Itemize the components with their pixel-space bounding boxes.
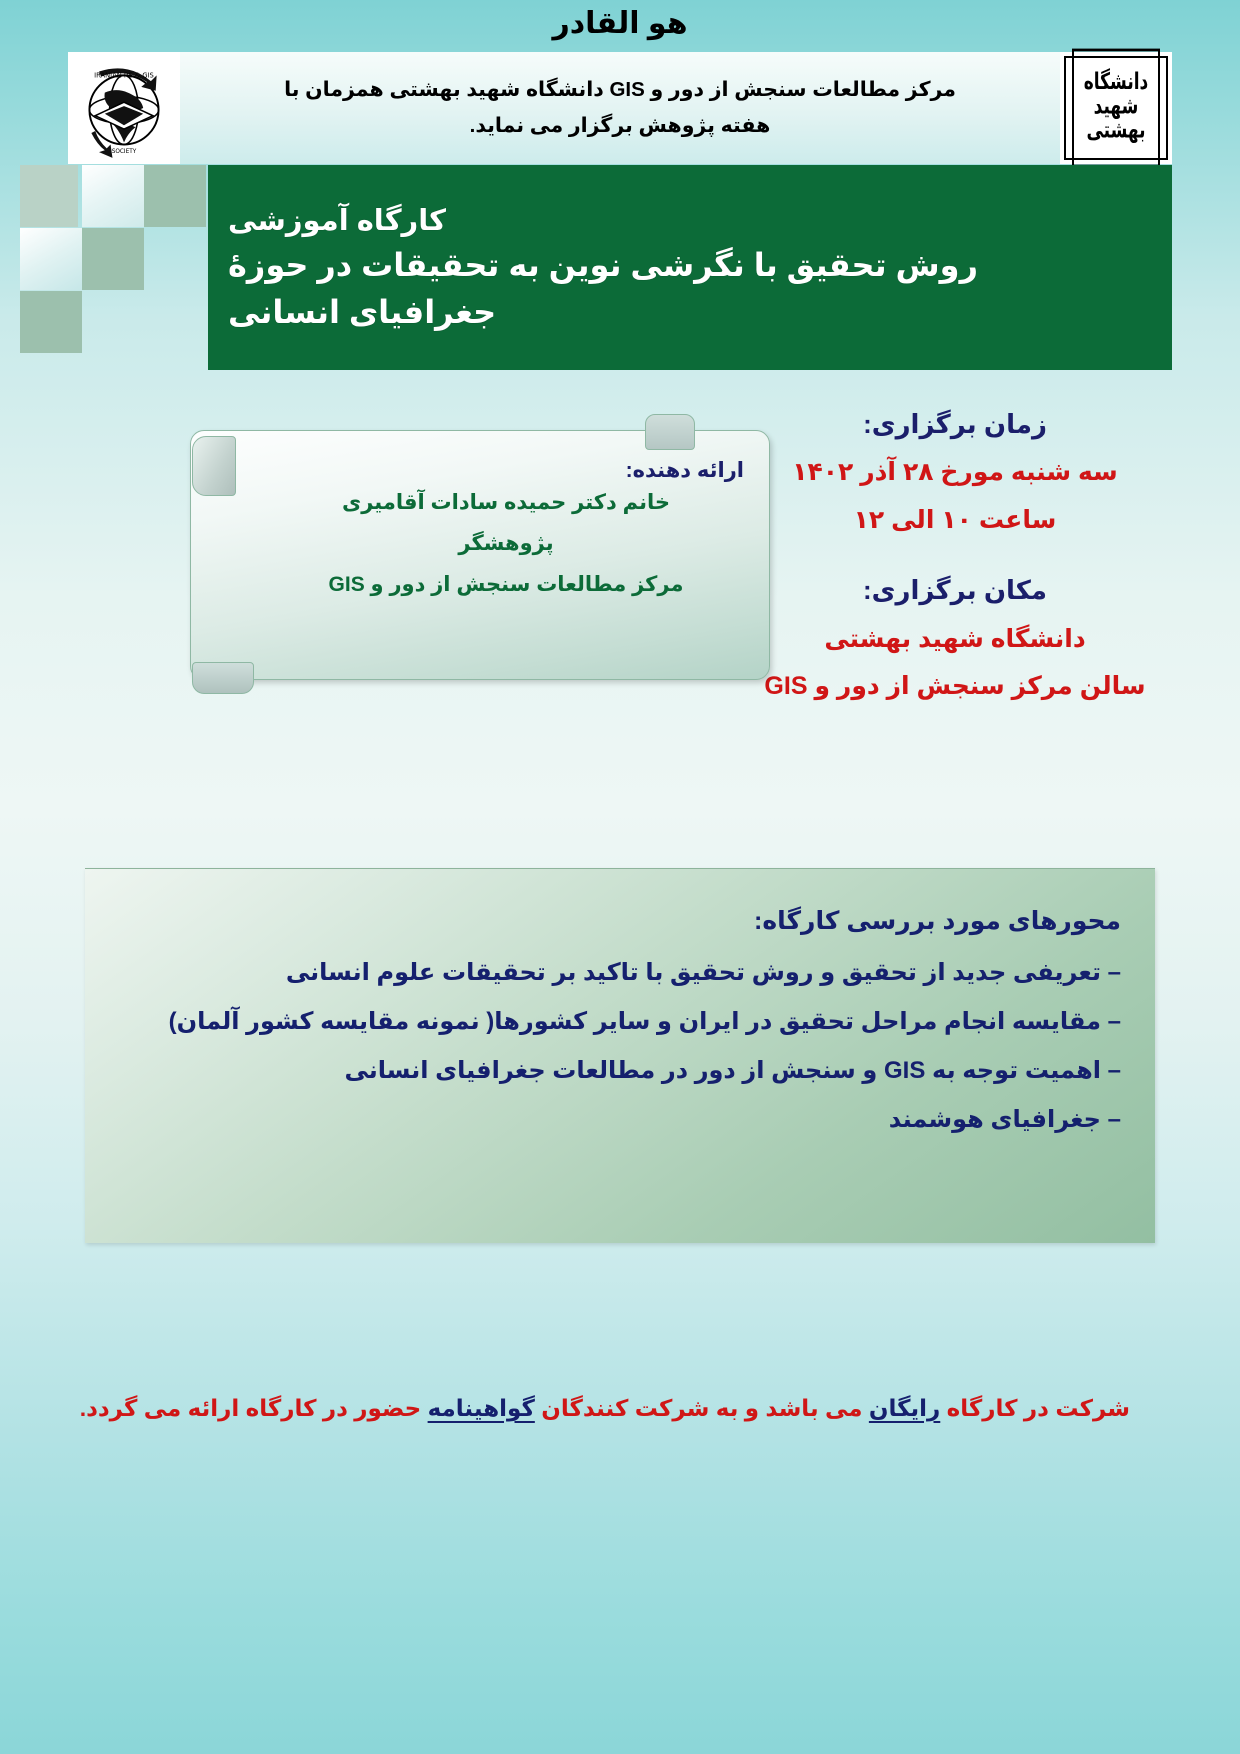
- banner-line-subtitle: جغرافیای انسانی: [228, 289, 782, 335]
- seal-calligraphy: دانشگاه شهید بهشتی: [1072, 49, 1160, 168]
- scroll-curl-top-icon: [645, 414, 695, 450]
- invocation-text: هو القادر: [0, 6, 1240, 41]
- scroll-curl-left-icon: [192, 436, 236, 496]
- event-place-line-1: دانشگاه شهید بهشتی: [760, 616, 1150, 664]
- topic-item: – اهمیت توجه به GIS و سنجش از دور در مطا…: [119, 1046, 1121, 1095]
- event-date: سه شنبه مورخ ۲۸ آذر ۱۴۰۲: [760, 449, 1150, 497]
- presenter-text-block: ارائه دهنده: خانم دکتر حمیده سادات آقامی…: [268, 458, 744, 606]
- event-place-line-2: سالن مرکز سنجش از دور و GIS: [760, 663, 1150, 711]
- header-bar: دانشگاه شهید بهشتی مرکز مطالعات سنجش از …: [68, 52, 1172, 164]
- topics-box: محورهای مورد بررسی کارگاه: – تعریفی جدید…: [85, 868, 1155, 1243]
- footer-part-2: می باشد و به شرکت کنندگان: [535, 1395, 869, 1421]
- place-label: مکان برگزاری:: [760, 566, 1150, 615]
- footer-part-1: شرکت در کارگاه: [940, 1395, 1130, 1421]
- decorative-square-3: [20, 165, 78, 227]
- event-hours: ساعت ۱۰ الی ۱۲: [760, 497, 1150, 545]
- topic-item: – مقایسه انجام مراحل تحقیق در ایران و سا…: [119, 997, 1121, 1046]
- decorative-square-1: [144, 165, 206, 227]
- banner-line-workshop: کارگاه آموزشی: [228, 200, 592, 242]
- info-spacer: [760, 544, 1150, 566]
- presenter-role: پژوهشگر: [268, 524, 744, 565]
- shahid-beheshti-university-seal: دانشگاه شهید بهشتی: [1064, 56, 1168, 160]
- topic-item: – تعریفی جدید از تحقیق و روش تحقیق با تا…: [119, 948, 1121, 997]
- header-line-1: مرکز مطالعات سنجش از دور و GIS دانشگاه ش…: [284, 72, 956, 108]
- society-logo-box: IRANIAN RS & GIS SOCIETY: [68, 52, 180, 164]
- iranian-rs-gis-society-logo: IRANIAN RS & GIS SOCIETY: [76, 58, 172, 158]
- presenter-label: ارائه دهنده:: [268, 458, 744, 483]
- footer-free-word: رایگان: [869, 1395, 940, 1421]
- header-announcement: مرکز مطالعات سنجش از دور و GIS دانشگاه ش…: [180, 52, 1060, 164]
- university-seal-box: دانشگاه شهید بهشتی: [1060, 52, 1172, 164]
- decorative-square-2: [82, 165, 144, 227]
- banner-line-title: روش تحقیق با نگرشی نوین به تحقیقات در حو…: [228, 242, 978, 288]
- event-info-column: زمان برگزاری: سه شنبه مورخ ۲۸ آذر ۱۴۰۲ س…: [760, 400, 1150, 711]
- presenter-scroll: ارائه دهنده: خانم دکتر حمیده سادات آقامی…: [190, 430, 770, 680]
- decorative-square-5: [20, 228, 82, 290]
- decorative-square-6: [20, 291, 82, 353]
- presenter-affiliation: مرکز مطالعات سنجش از دور و GIS: [268, 565, 744, 606]
- topic-item: – جغرافیای هوشمند: [119, 1095, 1121, 1144]
- workshop-title-banner: کارگاه آموزشی روش تحقیق با نگرشی نوین به…: [208, 165, 1172, 370]
- header-line-2: هفته پژوهش برگزار می نماید.: [470, 108, 771, 144]
- topics-title: محورهای مورد بررسی کارگاه:: [119, 895, 1121, 948]
- scroll-curl-bottom-icon: [192, 662, 254, 694]
- footer-note: شرکت در کارگاه رایگان می باشد و به شرکت …: [110, 1395, 1130, 1422]
- decorative-square-4: [82, 228, 144, 290]
- footer-certificate-word: گواهینامه: [428, 1395, 535, 1421]
- time-label: زمان برگزاری:: [760, 400, 1150, 449]
- svg-text:IRANIAN RS & GIS: IRANIAN RS & GIS: [94, 71, 154, 79]
- svg-text:SOCIETY: SOCIETY: [112, 149, 137, 155]
- footer-part-3: حضور در کارگاه ارائه می گردد.: [80, 1395, 428, 1421]
- title-banner-wrapper: کارگاه آموزشی روش تحقیق با نگرشی نوین به…: [68, 165, 1172, 370]
- presenter-name: خانم دکتر حمیده سادات آقامیری: [268, 483, 744, 524]
